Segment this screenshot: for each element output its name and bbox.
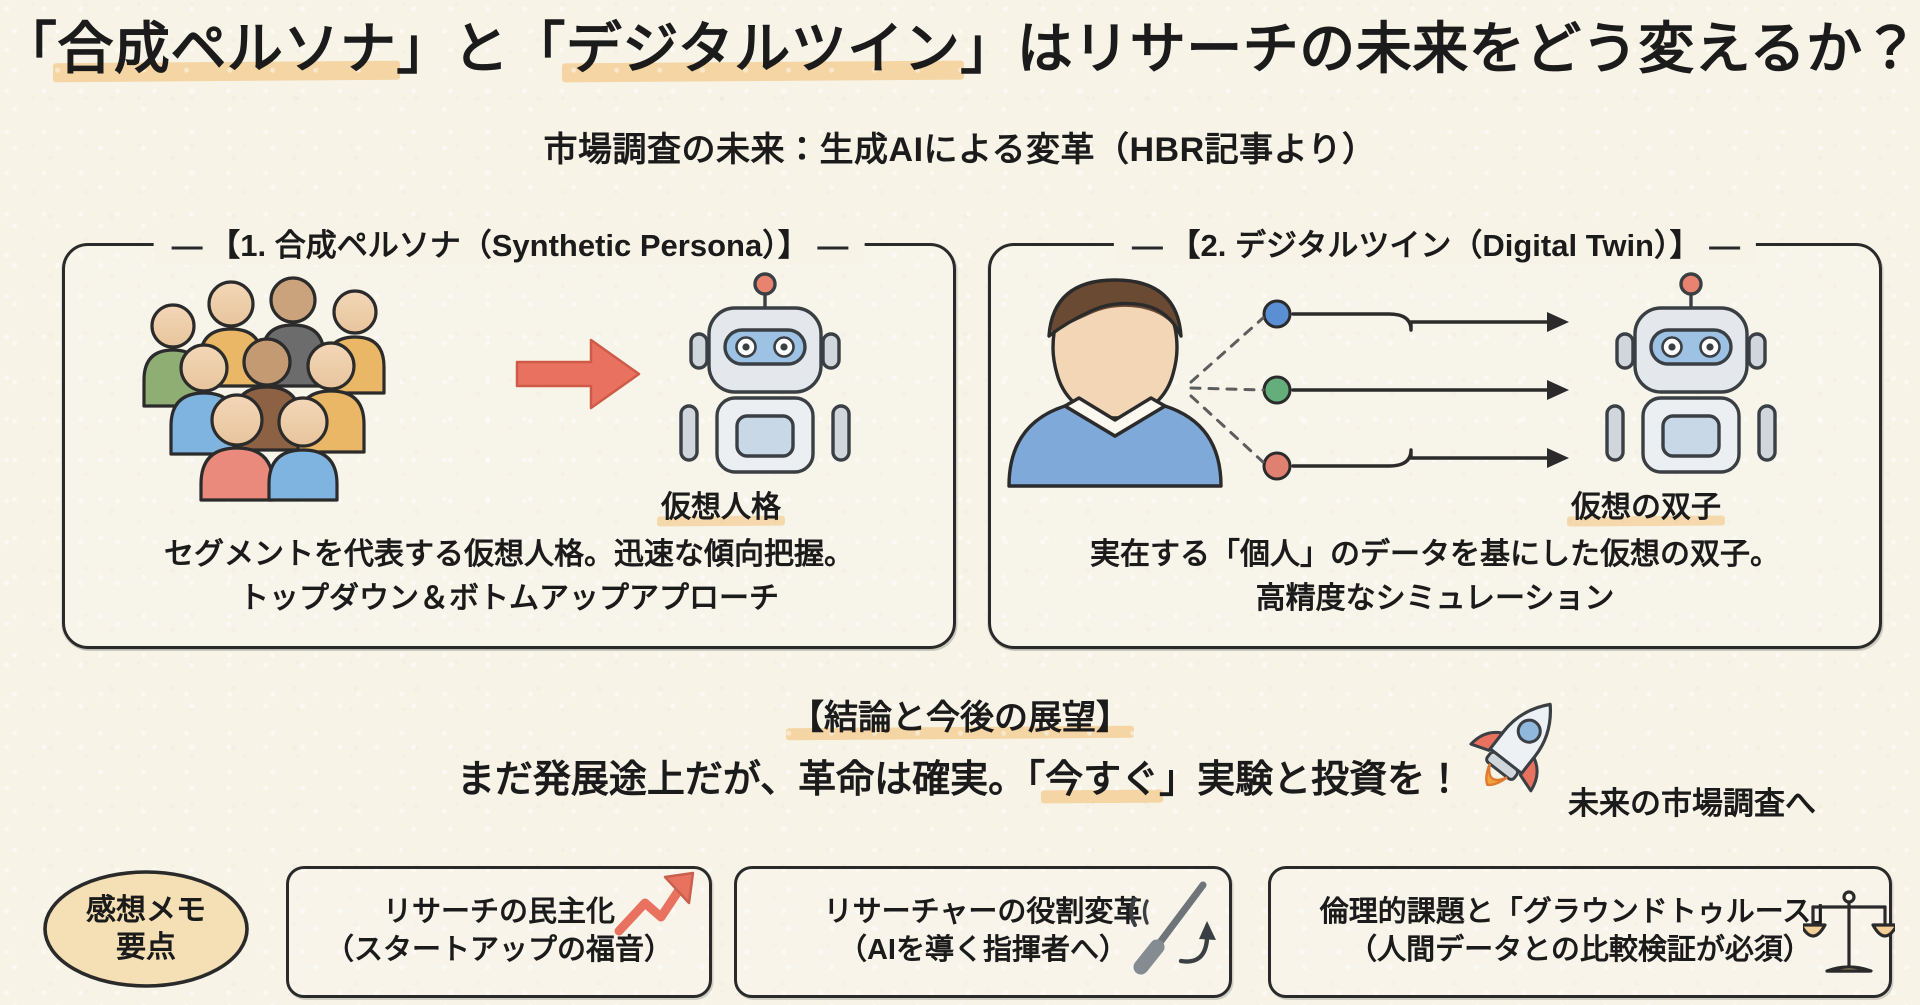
title-highlight-synthetic-persona: 合成ペルソナ — [57, 18, 396, 81]
panel-1-heading: ― 【1. 合成ペルソナ（Synthetic Persona）】 ― — [154, 220, 865, 265]
conclusion-heading: 【結論と今後の展望】 — [0, 690, 1920, 739]
trending-up-arrow-icon — [611, 865, 701, 946]
memo-card-democratization[interactable]: リサーチの民主化 （スタートアップの福音） — [286, 866, 712, 998]
panel-2-heading-text: 【2. デジタルツイン（Digital Twin）】 — [1170, 228, 1701, 263]
conclusion-highlight-now: 今すぐ — [1045, 748, 1159, 803]
panel-2-illustration — [991, 270, 1879, 502]
panel-2-heading: ― 【2. デジタルツイン（Digital Twin）】 ― — [1114, 220, 1756, 265]
memo-card-1-line-1: リサーチの民主化 — [383, 894, 615, 932]
memo-badge-line-1: 感想メモ — [86, 892, 206, 929]
panel-2-caption-line-2: 高精度なシミュレーション — [1009, 577, 1861, 621]
memo-badge-line-2: 要点 — [116, 929, 176, 966]
panel-1-illustration — [65, 270, 953, 502]
balance-scale-icon — [1803, 885, 1895, 990]
rocket-icon — [1465, 688, 1575, 798]
memo-card-3-line-1: 倫理的課題と「グラウンドトゥルース」 — [1320, 894, 1841, 932]
panel-1-caption-line-1: セグメントを代表する仮想人格。迅速な傾向把握。 — [83, 533, 935, 577]
panel-1-heading-text: 【1. 合成ペルソナ（Synthetic Persona）】 — [209, 228, 808, 263]
panel-1-sublabel: 仮想人格 — [661, 482, 781, 526]
title-segment-3: 」はリサーチの未来をどう変えるか？ — [960, 17, 1919, 80]
panel-digital-twin: ― 【2. デジタルツイン（Digital Twin）】 ― — [988, 243, 1882, 649]
title-highlight-digital-twin: デジタルツイン — [566, 18, 960, 81]
rocket-caption: 未来の市場調査へ — [1568, 778, 1816, 823]
page-title: 「合成ペルソナ」と「デジタルツイン」はリサーチの未来をどう変えるか？ — [0, 18, 1920, 81]
memo-card-2-line-2: （AIを導く指揮者へ） — [838, 932, 1128, 970]
infographic-canvas: 「合成ペルソナ」と「デジタルツイン」はリサーチの未来をどう変えるか？ 市場調査の… — [0, 0, 1920, 1005]
panel-1-dash-right: ― — [817, 228, 846, 263]
memo-card-ethics[interactable]: 倫理的課題と「グラウンドトゥルース」 （人間データとの比較検証が必須） — [1268, 866, 1892, 998]
right-arrow-shape — [517, 340, 639, 408]
memo-card-role-change[interactable]: リサーチャーの役割変革 （AIを導く指揮者へ） — [734, 866, 1232, 998]
panel-2-sublabel: 仮想の双子 — [1571, 482, 1721, 526]
conclusion-body-part-1: まだ発展途上だが、革命は確実。「 — [457, 759, 1045, 801]
memo-card-2-line-1: リサーチャーの役割変革 — [824, 894, 1143, 932]
conductor-baton-icon — [1125, 877, 1225, 986]
panel-1-dash-left: ― — [172, 228, 201, 263]
title-segment-2: 」と「 — [396, 17, 566, 80]
panel-1-caption: セグメントを代表する仮想人格。迅速な傾向把握。 トップダウン＆ボトムアップアプロ… — [83, 533, 935, 620]
panel-2-caption-line-1: 実在する「個人」のデータを基にした仮想の双子。 — [1009, 533, 1861, 577]
panel-synthetic-persona: ― 【1. 合成ペルソナ（Synthetic Persona）】 ― — [62, 243, 956, 649]
panel-2-caption: 実在する「個人」のデータを基にした仮想の双子。 高精度なシミュレーション — [1009, 533, 1861, 620]
page-subtitle: 市場調査の未来：生成AIによる変革（HBR記事より） — [0, 122, 1920, 171]
panel-1-caption-line-2: トップダウン＆ボトムアップアプローチ — [83, 577, 935, 621]
panel-2-dash-right: ― — [1709, 228, 1738, 263]
memo-card-3-line-2: （人間データとの比較検証が必須） — [1348, 932, 1812, 970]
panel-2-dash-left: ― — [1132, 228, 1161, 263]
conclusion-body-part-2: 」実験と投資を！ — [1159, 759, 1463, 801]
memo-badge: 感想メモ 要点 — [38, 866, 254, 992]
title-segment-1: 「 — [1, 17, 58, 80]
